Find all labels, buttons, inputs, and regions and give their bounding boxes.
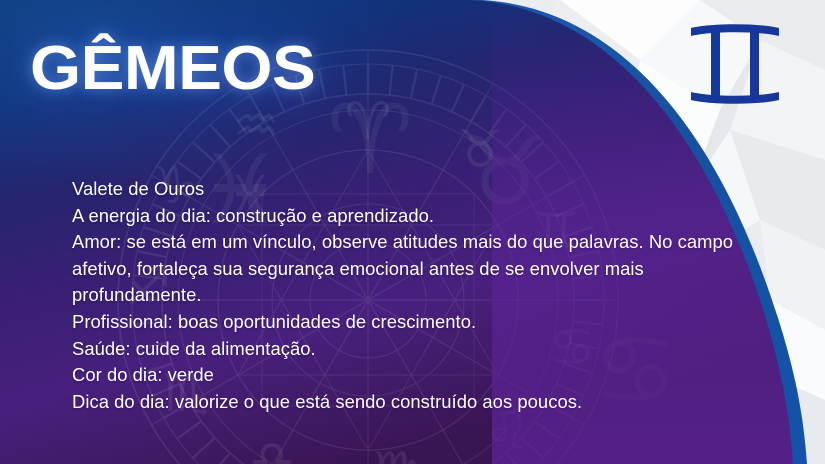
horoscope-line-work: Profissional: boas oportunidades de cres… xyxy=(72,309,762,336)
horoscope-line-energy: A energia do dia: construção e aprendiza… xyxy=(72,203,762,230)
page-title: GÊMEOS xyxy=(30,38,315,100)
svg-text:♎: ♎ xyxy=(249,430,296,464)
horoscope-card: ♈ ♉ ♊ ♋ ♌ ♍ ♎ ♏ ♐ ♑ ♒ ♓ ♈ ♉ ♓ ♋ xyxy=(0,0,825,464)
horoscope-line-color: Cor do dia: verde xyxy=(72,362,762,389)
horoscope-line-love: Amor: se está em um vínculo, observe ati… xyxy=(72,229,762,309)
svg-text:♍: ♍ xyxy=(373,442,420,464)
gemini-symbol-icon xyxy=(685,14,785,114)
horoscope-line-card: Valete de Ouros xyxy=(72,176,762,203)
horoscope-line-tip: Dica do dia: valorize o que está sendo c… xyxy=(72,389,762,416)
horoscope-body: Valete de Ouros A energia do dia: constr… xyxy=(72,176,762,415)
horoscope-line-health: Saúde: cuide da alimentação. xyxy=(72,336,762,363)
